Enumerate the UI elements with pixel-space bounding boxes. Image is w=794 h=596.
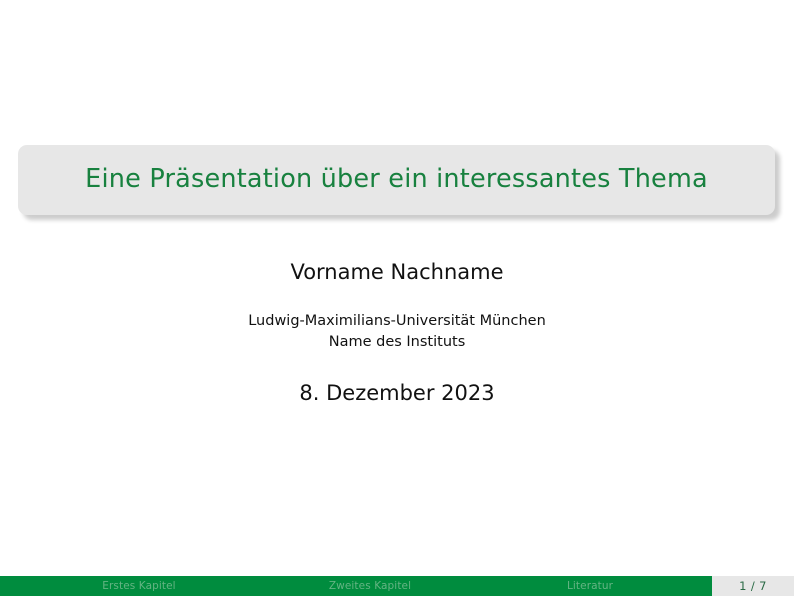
institute-block: Ludwig-Maximilians-Universität München N…: [0, 311, 794, 353]
title-box: Eine Präsentation über ein interessantes…: [18, 145, 775, 215]
institute-university: Ludwig-Maximilians-Universität München: [0, 311, 794, 332]
presentation-slide: Eine Präsentation über ein interessantes…: [0, 0, 794, 596]
page-title: Eine Präsentation über ein interessantes…: [85, 167, 708, 193]
author-name: Vorname Nachname: [0, 258, 794, 286]
footer-item-literatur[interactable]: Literatur: [515, 576, 665, 596]
page-number-box: 1 / 7: [712, 576, 794, 596]
footer-navigation-bar: Erstes Kapitel Zweites Kapitel Literatur…: [0, 576, 794, 596]
page-number-label: 1 / 7: [739, 579, 767, 593]
presentation-date: 8. Dezember 2023: [0, 379, 794, 407]
title-meta-block: Vorname Nachname Ludwig-Maximilians-Univ…: [0, 258, 794, 407]
institute-department: Name des Instituts: [0, 332, 794, 353]
footer-section-list: Erstes Kapitel Zweites Kapitel Literatur: [0, 576, 712, 596]
footer-item-erstes-kapitel[interactable]: Erstes Kapitel: [53, 576, 225, 596]
footer-item-zweites-kapitel[interactable]: Zweites Kapitel: [284, 576, 456, 596]
